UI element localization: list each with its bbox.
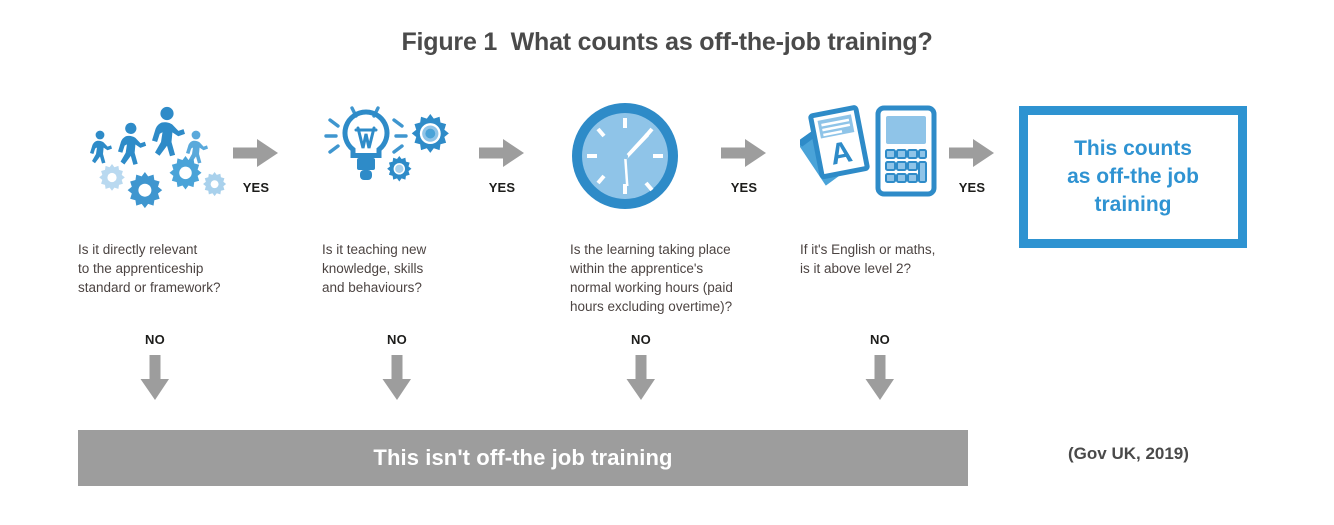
result-box-counts: This counts as off-the job training bbox=[1019, 106, 1247, 248]
source-attribution: (Gov UK, 2019) bbox=[1068, 444, 1189, 464]
arrow-right-icon bbox=[949, 136, 995, 170]
clock-icon bbox=[570, 100, 730, 210]
books-calculator-icon: A bbox=[800, 100, 960, 210]
flow-step-2: Is it teaching new knowledge, skills and… bbox=[322, 100, 482, 210]
no-branch-row: NO NO NO NO bbox=[0, 332, 1334, 422]
flow-step-1: Is it directly relevant to the apprentic… bbox=[78, 100, 238, 210]
result-bar-label: This isn't off-the job training bbox=[373, 445, 672, 471]
page-title: Figure 1 What counts as off-the-job trai… bbox=[0, 28, 1334, 57]
arrow-down-icon bbox=[863, 355, 897, 401]
no-label-4: NO bbox=[845, 332, 915, 347]
flow-step-3: Is the learning taking place within the … bbox=[570, 100, 730, 210]
no-label-2: NO bbox=[362, 332, 432, 347]
no-label-3: NO bbox=[606, 332, 676, 347]
lightbulb-gears-icon bbox=[322, 100, 482, 210]
arrow-right-icon bbox=[479, 136, 525, 170]
yes-label-4: YES bbox=[940, 180, 1004, 195]
arrow-down-icon bbox=[380, 355, 414, 401]
flow-step-2-question: Is it teaching new knowledge, skills and… bbox=[322, 240, 542, 297]
arrow-right-icon bbox=[721, 136, 767, 170]
arrow-right-icon bbox=[233, 136, 279, 170]
yes-label-1: YES bbox=[224, 180, 288, 195]
no-branch-1: NO bbox=[120, 332, 190, 401]
yes-label-2: YES bbox=[470, 180, 534, 195]
yes-branch-4: YES bbox=[940, 136, 1004, 195]
flow-step-3-question: Is the learning taking place within the … bbox=[570, 240, 790, 317]
no-branch-3: NO bbox=[606, 332, 676, 401]
yes-branch-1: YES bbox=[224, 136, 288, 195]
no-branch-2: NO bbox=[362, 332, 432, 401]
flow-step-1-question: Is it directly relevant to the apprentic… bbox=[78, 240, 298, 297]
yes-branch-2: YES bbox=[470, 136, 534, 195]
yes-label-3: YES bbox=[712, 180, 776, 195]
result-box-label: This counts as off-the job training bbox=[1067, 135, 1199, 218]
flow-step-4: A If it's bbox=[800, 100, 960, 210]
yes-branch-3: YES bbox=[712, 136, 776, 195]
arrow-down-icon bbox=[138, 355, 172, 401]
no-branch-4: NO bbox=[845, 332, 915, 401]
people-gears-icon bbox=[78, 100, 238, 210]
no-label-1: NO bbox=[120, 332, 190, 347]
arrow-down-icon bbox=[624, 355, 658, 401]
result-bar-not-counts: This isn't off-the job training bbox=[78, 430, 968, 486]
flow-step-4-question: If it's English or maths, is it above le… bbox=[800, 240, 1020, 278]
